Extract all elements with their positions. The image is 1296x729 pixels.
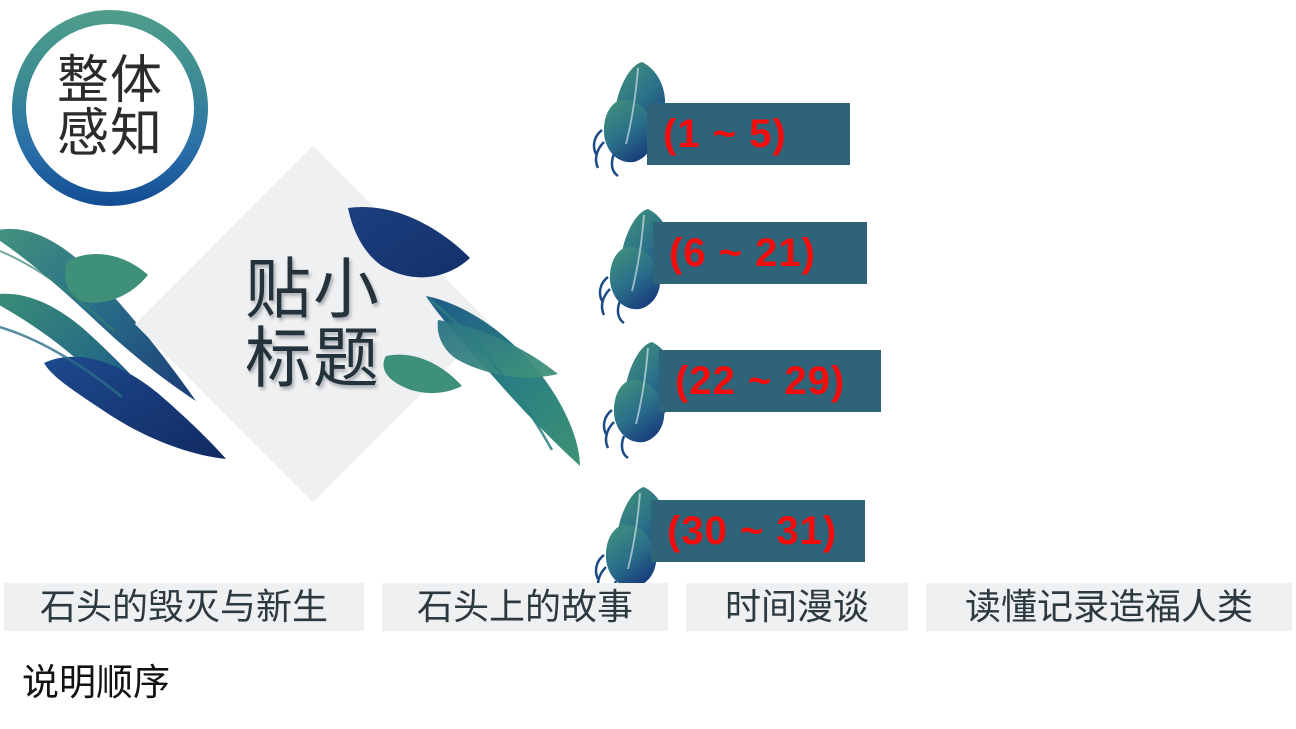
diamond-text-block: 贴小 标题 — [137, 148, 489, 500]
badge-line-1: 整体 — [57, 55, 163, 108]
badge-line-2: 感知 — [57, 108, 163, 161]
section-range-bar-2[interactable]: (6 ~ 21) — [653, 222, 867, 284]
leaf-cluster-left-decoration — [0, 205, 282, 470]
diamond-shape-fill — [135, 146, 491, 502]
subtitle-diamond: 贴小 标题 — [137, 148, 489, 500]
section-range-label-3: (22 ~ 29) — [659, 359, 845, 404]
section-caption-2[interactable]: 石头上的故事 — [382, 583, 668, 631]
section-caption-4[interactable]: 读懂记录造福人类 — [926, 583, 1292, 631]
section-range-label-4: (30 ~ 31) — [651, 509, 837, 554]
section-caption-3[interactable]: 时间漫谈 — [686, 583, 908, 631]
section-range-bar-3[interactable]: (22 ~ 29) — [659, 350, 881, 412]
section-range-label-1: (1 ~ 5) — [647, 112, 787, 157]
diamond-line-1: 贴小 — [245, 255, 381, 324]
slide-canvas: 整体 感知 — [0, 0, 1296, 729]
diamond-line-2: 标题 — [245, 324, 381, 393]
section-caption-1[interactable]: 石头的毁灭与新生 — [4, 583, 364, 631]
overall-perception-badge[interactable]: 整体 感知 — [12, 10, 208, 206]
badge-inner-disc: 整体 感知 — [26, 24, 194, 192]
section-range-bar-1[interactable]: (1 ~ 5) — [647, 103, 850, 165]
section-range-bar-4[interactable]: (30 ~ 31) — [651, 500, 865, 562]
section-range-label-2: (6 ~ 21) — [653, 231, 816, 276]
footer-note: 说明顺序 — [22, 652, 170, 706]
section-caption-row: 石头的毁灭与新生 石头上的故事 时间漫谈 读懂记录造福人类 — [0, 583, 1296, 631]
leaf-cluster-right-decoration — [330, 200, 630, 475]
